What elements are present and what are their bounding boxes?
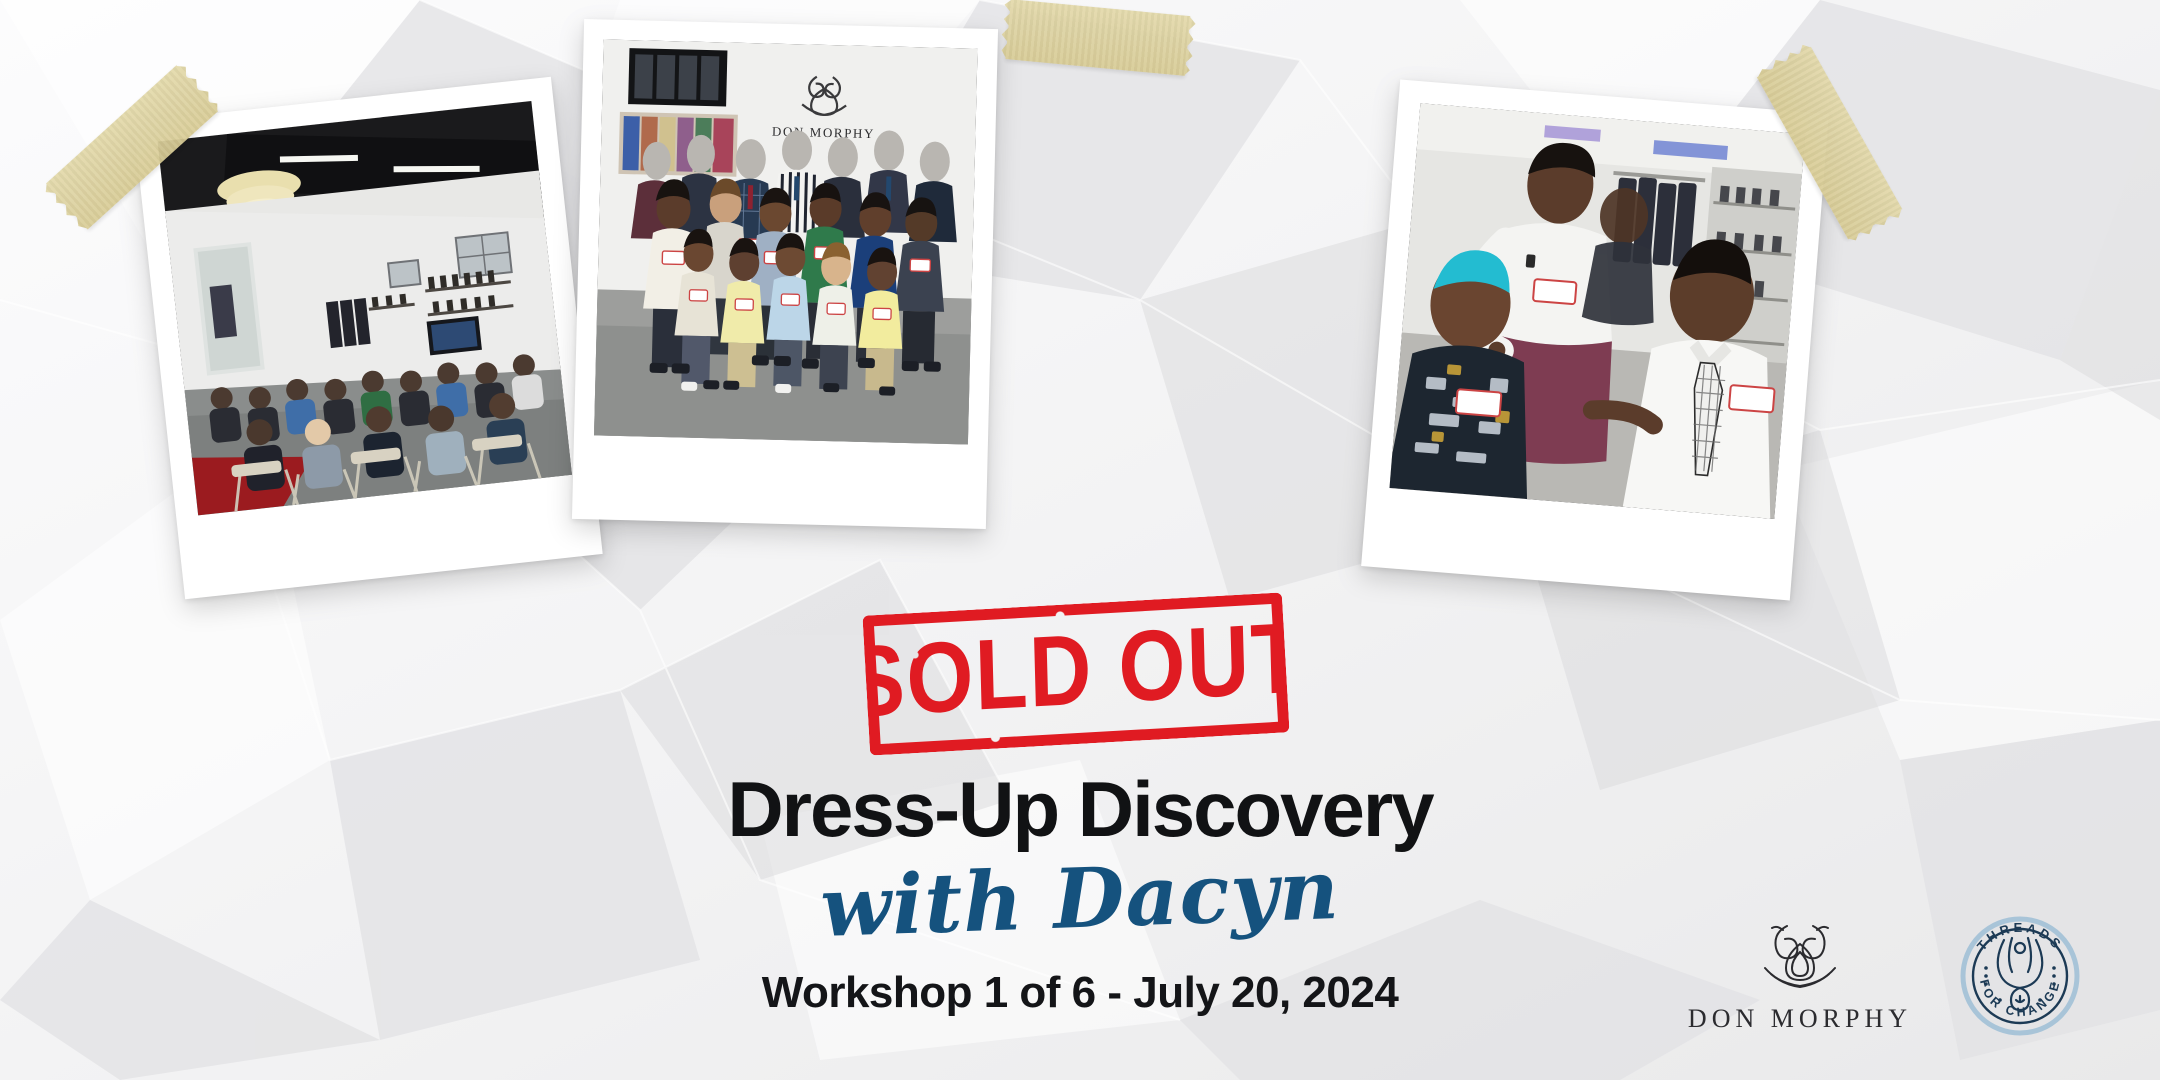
photo-right [1389,103,1805,519]
don-morphy-logo[interactable]: DON MORPHY [1688,918,1912,1034]
poster-canvas: DON MORPHY [0,0,2160,1080]
photo-center: DON MORPHY [594,39,978,444]
sold-out-stamp: SOLD OUT [862,592,1289,755]
don-morphy-wordmark: DON MORPHY [1688,1004,1912,1034]
polaroid-center[interactable]: DON MORPHY [572,19,998,529]
necktie-knot-icon: THREADS FOR CHANGE [1958,914,2082,1038]
sold-out-label: SOLD OUT [834,605,1318,744]
seahorse-monogram-icon [1757,918,1843,996]
svg-text:THREADS: THREADS [1974,920,2066,954]
polaroid-right[interactable] [1361,80,1829,601]
polaroid-left[interactable] [133,77,602,600]
threads-top-text: THREADS [1974,920,2066,954]
logo-row: DON MORPHY [1688,914,2082,1038]
threads-for-change-badge[interactable]: THREADS FOR CHANGE [1958,914,2082,1038]
photo-left [158,101,572,515]
